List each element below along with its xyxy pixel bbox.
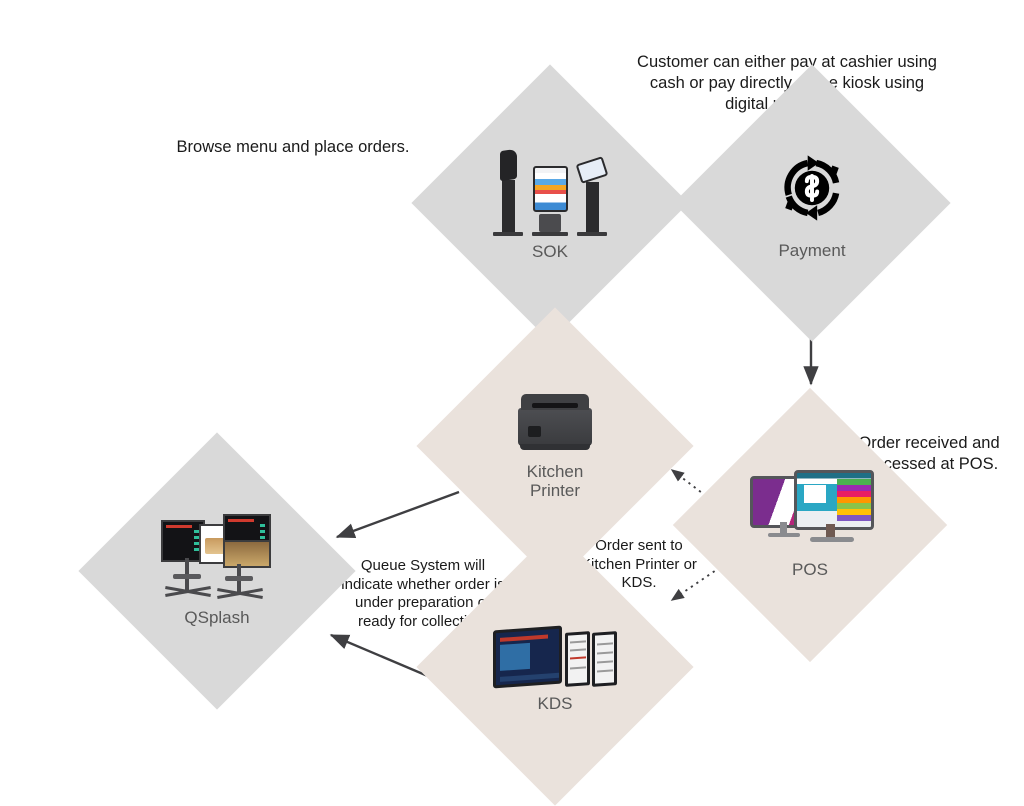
node-pos-label: POS xyxy=(792,560,828,579)
node-sok-label: SOK xyxy=(532,242,568,261)
payment-icon-svg xyxy=(769,145,855,231)
thermal-printer-icon xyxy=(518,392,592,452)
node-sok[interactable]: SOK xyxy=(452,105,648,301)
digital-menu-boards-icon xyxy=(159,514,275,606)
kds-screen-2 xyxy=(565,632,590,688)
node-kitchen-printer-label: Kitchen Printer xyxy=(527,462,584,500)
pos-terminal-icon xyxy=(750,470,870,548)
node-qsplash[interactable]: QSplash xyxy=(119,473,315,669)
kiosk-left xyxy=(493,150,523,236)
annotation-browse-menu: Browse menu and place orders. xyxy=(148,116,438,158)
diagram-canvas: Browse menu and place orders. Customer c… xyxy=(0,0,1024,768)
node-qsplash-label: QSplash xyxy=(184,608,249,627)
self-order-kiosk-icon xyxy=(493,144,607,236)
node-payment[interactable]: Payment xyxy=(714,105,910,301)
node-kitchen-printer[interactable]: Kitchen Printer xyxy=(457,348,653,544)
menu-board-4 xyxy=(223,540,271,568)
kiosk-right xyxy=(577,160,607,236)
kds-screen-3 xyxy=(592,632,617,688)
node-payment-label: Payment xyxy=(778,241,845,260)
edge-kitchen-printer-to-qsplash xyxy=(337,492,459,537)
annotation-browse-menu-text: Browse menu and place orders. xyxy=(177,138,410,156)
kitchen-display-screens-icon xyxy=(493,620,617,686)
kiosk-center xyxy=(532,166,568,236)
node-kds[interactable]: KDS xyxy=(457,569,653,765)
pos-monitor-front xyxy=(794,470,874,530)
payment-cycle-dollar-icon xyxy=(769,145,855,231)
kds-screen-main xyxy=(493,626,562,689)
node-kds-label: KDS xyxy=(538,694,573,713)
node-pos[interactable]: POS xyxy=(713,428,907,622)
